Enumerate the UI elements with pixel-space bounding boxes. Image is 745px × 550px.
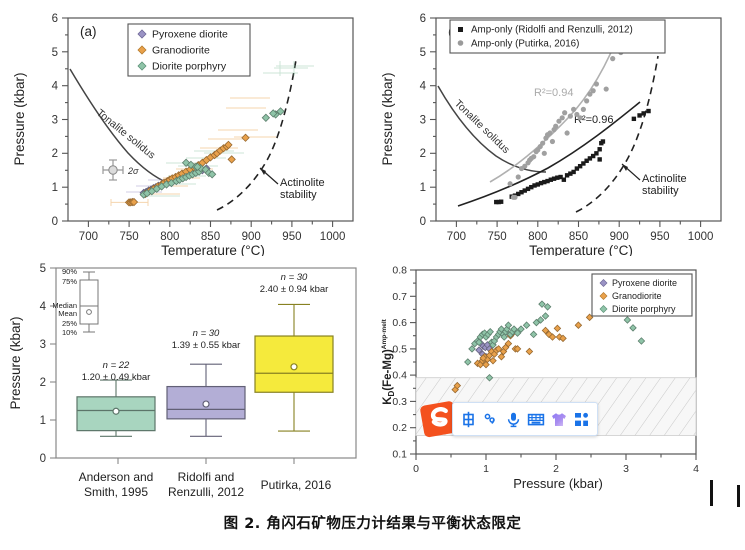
panel-b-plot: 0 1 2 3 4 5 6 700 750 800 85 <box>378 6 738 256</box>
panel-c-key-p10: 10% <box>62 328 77 337</box>
panel-a-legend-label-2: Diorite porphyry <box>152 61 227 73</box>
page-edge-mark-right <box>737 485 740 507</box>
panel-b-legend-label-1: Amp-only (Putirka, 2016) <box>471 39 579 50</box>
panel-c-category-0-line-1: Smith, 1995 <box>84 485 148 499</box>
voice-input-icon[interactable] <box>504 407 524 431</box>
data-point <box>597 147 601 151</box>
panel-a-ytick-6: 6 <box>52 13 58 25</box>
data-point <box>516 174 521 179</box>
data-point <box>594 151 598 155</box>
skin-theme-icon[interactable] <box>549 407 569 431</box>
data-point <box>604 86 609 91</box>
panel-b-xtick-700: 700 <box>447 231 466 243</box>
panel-c-category-1-line-0: Ridolfi and <box>178 470 235 484</box>
panel-a-xtick-950: 950 <box>282 231 301 243</box>
data-point <box>547 130 552 135</box>
panel-a-legend: Pyroxene diorite Granodiorite Diorite po… <box>128 24 250 76</box>
panel-a-xtick-800: 800 <box>160 231 179 243</box>
panel-b-xtick-950: 950 <box>650 231 669 243</box>
figure-page: 0 1 2 3 4 5 6 700 750 800 <box>0 0 745 550</box>
panel-b-ytick-0: 0 <box>420 216 426 228</box>
data-point <box>637 113 641 117</box>
panel-b-actinolite-label-1: Actinolite <box>642 173 687 185</box>
panel-a-label: (a) <box>80 24 97 39</box>
panel-a-xtick-750: 750 <box>120 231 139 243</box>
data-point <box>531 154 536 159</box>
panel-a-ytick-0: 0 <box>52 216 58 228</box>
panel-d-legend-label-2: Diorite porphyry <box>612 304 676 314</box>
panel-a-ytick-3: 3 <box>52 115 58 127</box>
panel-d-ytick-7: 0.8 <box>392 265 407 277</box>
panel-c-stat-1-value: 1.39 ± 0.55 kbar <box>172 340 241 351</box>
panel-c-stat-1-n: n = 30 <box>193 328 220 339</box>
panel-c-plot: 0 1 2 3 4 5 Pressure (kbar) Anderson and… <box>8 258 368 508</box>
data-point <box>562 178 566 182</box>
panel-c-stat-0-n: n = 22 <box>103 360 130 371</box>
data-point <box>591 88 596 93</box>
panel-a-ytick-2: 2 <box>52 148 58 160</box>
panel-b-r2-grey: R²=0.94 <box>534 87 573 99</box>
panel-d-ytick-1: 0.2 <box>392 422 407 434</box>
panel-a-xtick-1000: 1000 <box>320 231 346 243</box>
data-point <box>542 151 547 156</box>
panel-d: 0.1 0.2 0.3 0.4 0.5 0.6 0.7 0.8 0 1 2 <box>378 258 738 508</box>
panel-d-plot: 0.1 0.2 0.3 0.4 0.5 0.6 0.7 0.8 0 1 2 <box>378 258 738 508</box>
panel-d-xtick-0: 0 <box>413 463 419 475</box>
panel-b-xtick-800: 800 <box>528 231 547 243</box>
soft-keyboard-icon[interactable] <box>526 407 546 431</box>
data-point <box>540 141 545 146</box>
panel-a-plot: 0 1 2 3 4 5 6 700 750 800 <box>8 6 368 256</box>
data-point <box>560 115 565 120</box>
data-point <box>562 110 567 115</box>
panel-c-ytick-5: 5 <box>40 263 46 275</box>
panel-b-legend-marker-ridolfi <box>458 27 463 32</box>
panel-b-legend-marker-putirka <box>458 40 464 46</box>
panel-d-ytick-4: 0.5 <box>392 343 407 355</box>
panel-b-legend: Amp-only (Ridolfi and Renzulli, 2012) Am… <box>450 20 665 53</box>
data-point <box>601 139 605 143</box>
panel-c-key-mean: Mean <box>58 309 77 318</box>
panel-d-ytick-0: 0.1 <box>392 449 407 461</box>
panel-a-actinolite-label-2: stability <box>280 189 317 201</box>
sogou-ime-toolbar[interactable] <box>452 402 598 436</box>
data-point <box>512 195 517 200</box>
panel-b: 0 1 2 3 4 5 6 700 750 800 85 <box>378 6 738 256</box>
panel-d-ylabel-sup: Amp-melt <box>381 318 388 349</box>
panel-a-ylabel: Pressure (kbar) <box>12 72 27 165</box>
panel-d-ylabel-mid: (Fe-Mg) <box>382 349 394 391</box>
panel-d-ytick-5: 0.6 <box>392 317 407 329</box>
panel-a-legend-label-1: Granodiorite <box>152 45 210 57</box>
panel-a: 0 1 2 3 4 5 6 700 750 800 <box>8 6 368 256</box>
panel-d-legend: Pyroxene diorite Granodiorite Diorite po… <box>592 274 692 316</box>
data-point <box>584 98 589 103</box>
panel-d-xtick-3: 3 <box>623 463 629 475</box>
data-point <box>597 157 601 161</box>
panel-c-ytick-3: 3 <box>40 339 46 351</box>
data-point <box>571 107 576 112</box>
data-point <box>646 109 650 113</box>
panel-b-xtick-900: 900 <box>610 231 629 243</box>
data-point <box>610 56 615 61</box>
data-point <box>578 115 583 120</box>
panel-a-xtick-700: 700 <box>79 231 98 243</box>
panel-d-legend-label-0: Pyroxene diorite <box>612 278 677 288</box>
panel-b-ytick-4: 4 <box>420 81 427 93</box>
panel-c-stat-2-n: n = 30 <box>281 272 308 283</box>
panel-c-category-2-line-0: Putirka, 2016 <box>261 478 332 492</box>
panel-a-legend-label-0: Pyroxene diorite <box>152 29 228 41</box>
data-point <box>568 114 573 119</box>
panel-d-xlabel: Pressure (kbar) <box>513 476 603 491</box>
panel-a-actinolite-label-1: Actinolite <box>280 177 325 189</box>
panel-c-category-1-line-1: Renzulli, 2012 <box>168 485 244 499</box>
svg-text:KD(Fe-Mg)Amp-melt: KD(Fe-Mg)Amp-melt <box>381 318 396 404</box>
panel-b-ytick-3: 3 <box>420 115 426 127</box>
panel-d-ytick-6: 0.7 <box>392 291 407 303</box>
panel-d-ytick-2: 0.3 <box>392 396 407 408</box>
panel-b-xlabel: Temperature (°C) <box>529 243 633 256</box>
panel-c-key-p90: 90% <box>62 267 77 276</box>
panel-b-ylabel: Pressure (kbar) <box>380 72 395 165</box>
data-point <box>632 117 636 121</box>
data-point <box>508 181 513 186</box>
panel-d-xtick-1: 1 <box>483 463 489 475</box>
data-point <box>499 200 503 204</box>
panel-d-legend-label-1: Granodiorite <box>612 291 662 301</box>
data-point <box>550 139 555 144</box>
panel-a-ytick-1: 1 <box>52 182 58 194</box>
panel-c-ylabel: Pressure (kbar) <box>8 316 23 409</box>
toolbox-menu-icon[interactable] <box>572 407 592 431</box>
data-point <box>581 107 586 112</box>
panel-d-xtick-4: 4 <box>693 463 699 475</box>
panel-d-ylabel: KD(Fe-Mg)Amp-melt <box>381 318 396 404</box>
figure-caption: 图 2. 角闪石矿物压力计结果与平衡状态限定 <box>0 512 745 533</box>
panel-c-stat-0-value: 1.20 ± 0.49 kbar <box>82 372 151 383</box>
panel-b-actinolite-label-2: stability <box>642 185 679 197</box>
panel-b-ytick-5: 5 <box>420 47 426 59</box>
panel-b-ytick-1: 1 <box>420 182 426 194</box>
data-point <box>641 111 645 115</box>
data-point <box>594 81 599 86</box>
panel-a-xtick-850: 850 <box>201 231 220 243</box>
panel-d-xtick-2: 2 <box>553 463 559 475</box>
panel-b-xtick-750: 750 <box>488 231 507 243</box>
panel-c-stat-2-value: 2.40 ± 0.94 kbar <box>260 284 329 295</box>
data-point <box>553 124 558 129</box>
panel-a-xlabel: Temperature (°C) <box>161 243 265 256</box>
page-edge-mark-left <box>710 480 713 506</box>
panel-a-xtick-900: 900 <box>242 231 261 243</box>
panel-a-sigma-label: 2σ <box>127 166 139 176</box>
panel-a-ytick-4: 4 <box>52 81 59 93</box>
panel-b-xtick-1000: 1000 <box>688 231 714 243</box>
panel-b-xtick-850: 850 <box>569 231 588 243</box>
panel-d-ytick-3: 0.4 <box>392 370 407 382</box>
panel-b-ytick-2: 2 <box>420 148 426 160</box>
panel-c-ytick-1: 1 <box>40 415 46 427</box>
punctuation-toggle-icon[interactable] <box>481 407 501 431</box>
panel-c-ytick-2: 2 <box>40 377 46 389</box>
panel-c: 0 1 2 3 4 5 Pressure (kbar) Anderson and… <box>8 258 368 508</box>
data-point <box>565 130 570 135</box>
panel-c-key-p25: 25% <box>62 319 77 328</box>
chinese-english-toggle-icon[interactable] <box>458 407 478 431</box>
panel-c-category-0-line-0: Anderson and <box>79 470 154 484</box>
panel-c-key-p75: 75% <box>62 277 77 286</box>
panel-c-ytick-0: 0 <box>40 453 46 465</box>
panel-b-legend-label-0: Amp-only (Ridolfi and Renzulli, 2012) <box>471 25 633 36</box>
panel-b-ytick-6: 6 <box>420 13 426 25</box>
panel-c-ytick-4: 4 <box>40 301 47 313</box>
panel-a-ytick-5: 5 <box>52 47 58 59</box>
